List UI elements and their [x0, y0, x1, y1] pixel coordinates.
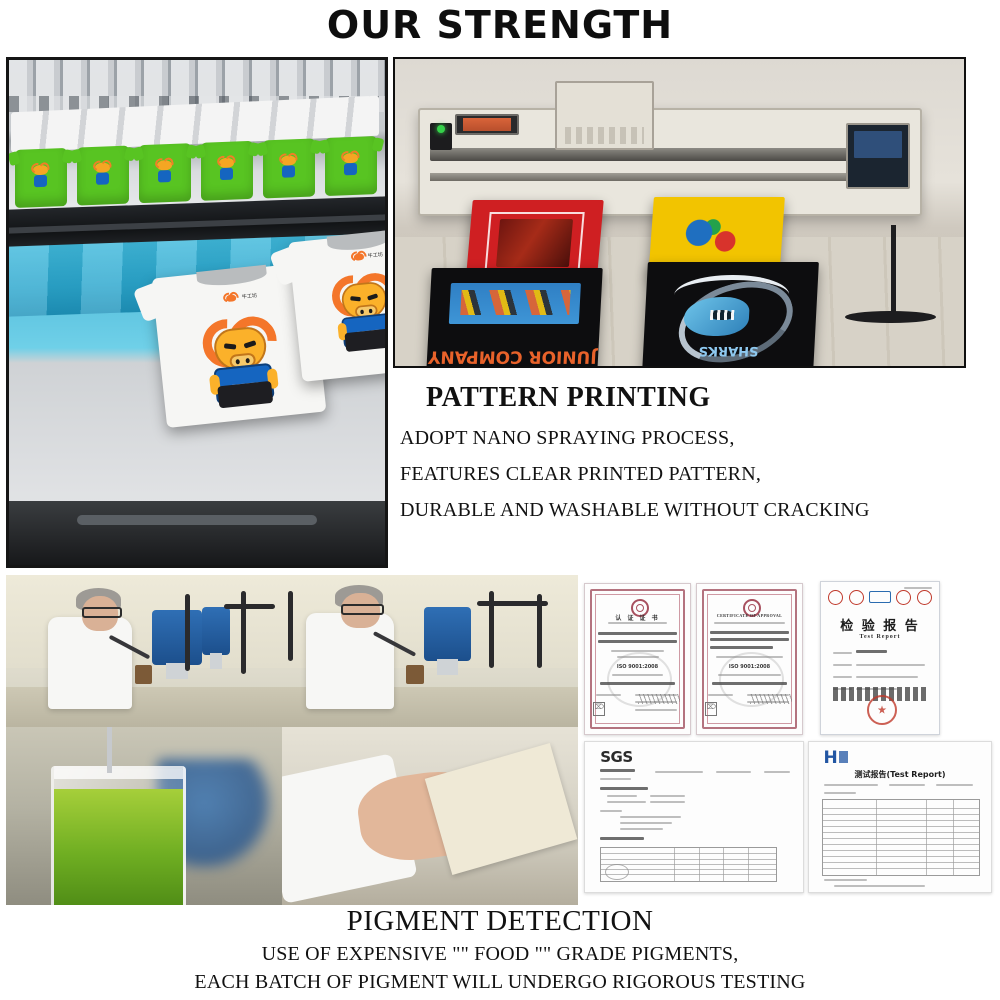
flatbed-printer-photo: JUNIOR COMPANY SHARKS [393, 57, 966, 368]
pigment-detection-text-block: PIGMENT DETECTION USE OF EXPENSIVE "" FO… [0, 905, 1000, 1000]
pattern-printing-line-1: ADOPT NANO SPRAYING PROCESS, [400, 427, 1000, 450]
ccc-logo-icon [828, 590, 843, 605]
printer-rail-lower [430, 173, 911, 181]
cnas-logo-icon [869, 591, 891, 603]
lab-stand-arm [288, 591, 293, 661]
bull-mascot-icon [341, 153, 361, 178]
sharks-label: SHARKS [660, 342, 797, 357]
lab-stand-arm [185, 594, 190, 671]
bull-pants [344, 328, 385, 352]
bull-eye-right [244, 340, 257, 348]
certificate-title: CERTIFICATE OF APPROVAL [697, 613, 802, 618]
lab-technician-photo-1 [6, 575, 286, 735]
sgs-results-table [600, 847, 776, 882]
conveyor-printing-line-photo: 牛工坊 [6, 57, 388, 568]
strength-collage-page: OUR STRENGTH [0, 0, 1000, 1000]
brand-text: 牛工坊 [368, 251, 384, 260]
pattern-printing-line-3: DURABLE AND WASHABLE WITHOUT CRACKING [400, 499, 1000, 522]
lab-mixer-equipment [202, 607, 230, 655]
sample-bottle [135, 665, 152, 684]
lab-mixer-equipment [152, 610, 202, 664]
iso-certificate-english: CERTIFICATE OF APPROVAL ISO 9001:2008 ⌦ [696, 583, 803, 735]
conveyor-scene: 牛工坊 [9, 60, 385, 565]
certificate-mark-icon: ⌦ [593, 702, 605, 716]
printer-rail-upper [430, 148, 911, 162]
green-shirt [77, 146, 129, 206]
printer-stand-base [845, 311, 936, 323]
inspection-test-report: 检 验 报 告 Test Report [820, 581, 940, 735]
bull-pants [217, 381, 273, 409]
sgs-test-report: SGS [584, 741, 804, 893]
bull-logo-icon [224, 292, 239, 303]
certificate-signature [638, 694, 680, 704]
brand-text: 牛工坊 [242, 292, 258, 301]
bottom-photo-row: 认 证 证 书 ISO 9001:2008 ⌦ [6, 575, 994, 905]
h-results-table [822, 799, 981, 876]
bull-eye-left [224, 343, 236, 349]
certificates-block: 认 证 证 书 ISO 9001:2008 ⌦ [578, 575, 994, 905]
technician-lab-coat [306, 613, 395, 709]
bull-eye-right [367, 293, 378, 300]
certificate-title: 认 证 证 书 [585, 613, 690, 622]
lab-mixer-equipment [424, 607, 471, 661]
yellow-shirt-artwork [670, 210, 763, 266]
certificate-standard: ISO 9001:2008 [585, 664, 690, 670]
pigment-detection-line-1: USE OF EXPENSIVE "" FOOD "" GRADE PIGMEN… [0, 943, 1000, 966]
report-title-cn: 检 验 报 告 [821, 615, 939, 634]
technician-glasses [82, 607, 122, 618]
iso-certificate-chinese: 认 证 证 书 ISO 9001:2008 ⌦ [584, 583, 691, 735]
certificate-standard: ISO 9001:2008 [697, 664, 802, 670]
printer-control-panel[interactable] [846, 123, 910, 190]
bull-eye-left [350, 296, 361, 301]
pattern-printing-text-block: PATTERN PRINTING ADOPT NANO SPRAYING PRO… [400, 382, 1000, 562]
green-shirt [201, 141, 253, 201]
printhead-carriage [555, 81, 654, 150]
bull-mascot-large [200, 308, 284, 411]
green-shirt [15, 148, 67, 208]
sgs-seal-icon [605, 864, 629, 880]
report-title-en: Test Report [821, 634, 939, 640]
printer-scene: JUNIOR COMPANY SHARKS [395, 59, 964, 366]
technician-glasses [341, 604, 383, 615]
cal-logo-icon [917, 590, 932, 605]
shark-mouth [710, 310, 734, 320]
bull-mascot-large [329, 266, 385, 355]
lab-clamp [224, 604, 274, 609]
junior-company-graphic [449, 282, 581, 324]
beaker-glass-highlight [51, 766, 186, 905]
machine-base [9, 501, 385, 565]
red-shirt-artwork [496, 219, 574, 267]
lab-technician-photo-2 [282, 575, 578, 735]
technician-lab-coat [48, 617, 132, 710]
junior-company-label: JUNIOR COMPANY [427, 347, 599, 363]
h-test-report: H 测试报告(Test Report) [808, 741, 992, 893]
printed-shirt-junior-company: JUNIOR COMPANY [426, 268, 602, 366]
h-lab-logo: H [824, 748, 838, 768]
page-title: OUR STRENGTH [0, 0, 1000, 50]
printer-stand-pole [891, 225, 896, 317]
certification-logos [828, 591, 932, 603]
green-shirt [325, 136, 377, 196]
bull-mascot-icon [31, 165, 51, 190]
bull-mascot-icon [93, 162, 113, 187]
green-shirt [139, 143, 191, 203]
bull-mascot-icon [155, 160, 175, 185]
stirring-rod [107, 727, 112, 773]
sharks-graphic: SHARKS [660, 275, 801, 359]
pattern-printing-heading: PATTERN PRINTING [426, 382, 1000, 414]
pigment-detection-heading: PIGMENT DETECTION [0, 905, 1000, 938]
certificate-mark-icon: ⌦ [705, 702, 717, 716]
shark-teeth [710, 310, 734, 320]
power-led-icon [437, 125, 445, 133]
h-report-title: 测试报告(Test Report) [809, 769, 991, 780]
white-shirt-large: 牛工坊 [288, 228, 385, 382]
pigment-detection-line-2: EACH BATCH OF PIGMENT WILL UNDERGO RIGOR… [0, 971, 1000, 994]
green-pigment-beaker-photo [6, 727, 286, 905]
printer-tablet-screen[interactable] [455, 114, 519, 135]
cqc-logo-icon [849, 590, 864, 605]
certificate-signature [750, 694, 792, 704]
hand-holding-sample-photo [282, 727, 578, 905]
pattern-printing-line-2: FEATURES CLEAR PRINTED PATTERN, [400, 463, 1000, 486]
printed-shirt-sharks: SHARKS [642, 262, 818, 366]
bull-mascot-icon [217, 157, 237, 182]
bull-mascot-icon [279, 155, 299, 180]
official-red-stamp-icon [867, 695, 897, 725]
sample-bottle [406, 665, 424, 684]
bull-logo-icon [351, 251, 366, 262]
green-shirt [263, 138, 315, 198]
cma-logo-icon [896, 590, 911, 605]
sgs-logo: SGS [600, 748, 632, 766]
lab-stand-arm [537, 594, 542, 668]
